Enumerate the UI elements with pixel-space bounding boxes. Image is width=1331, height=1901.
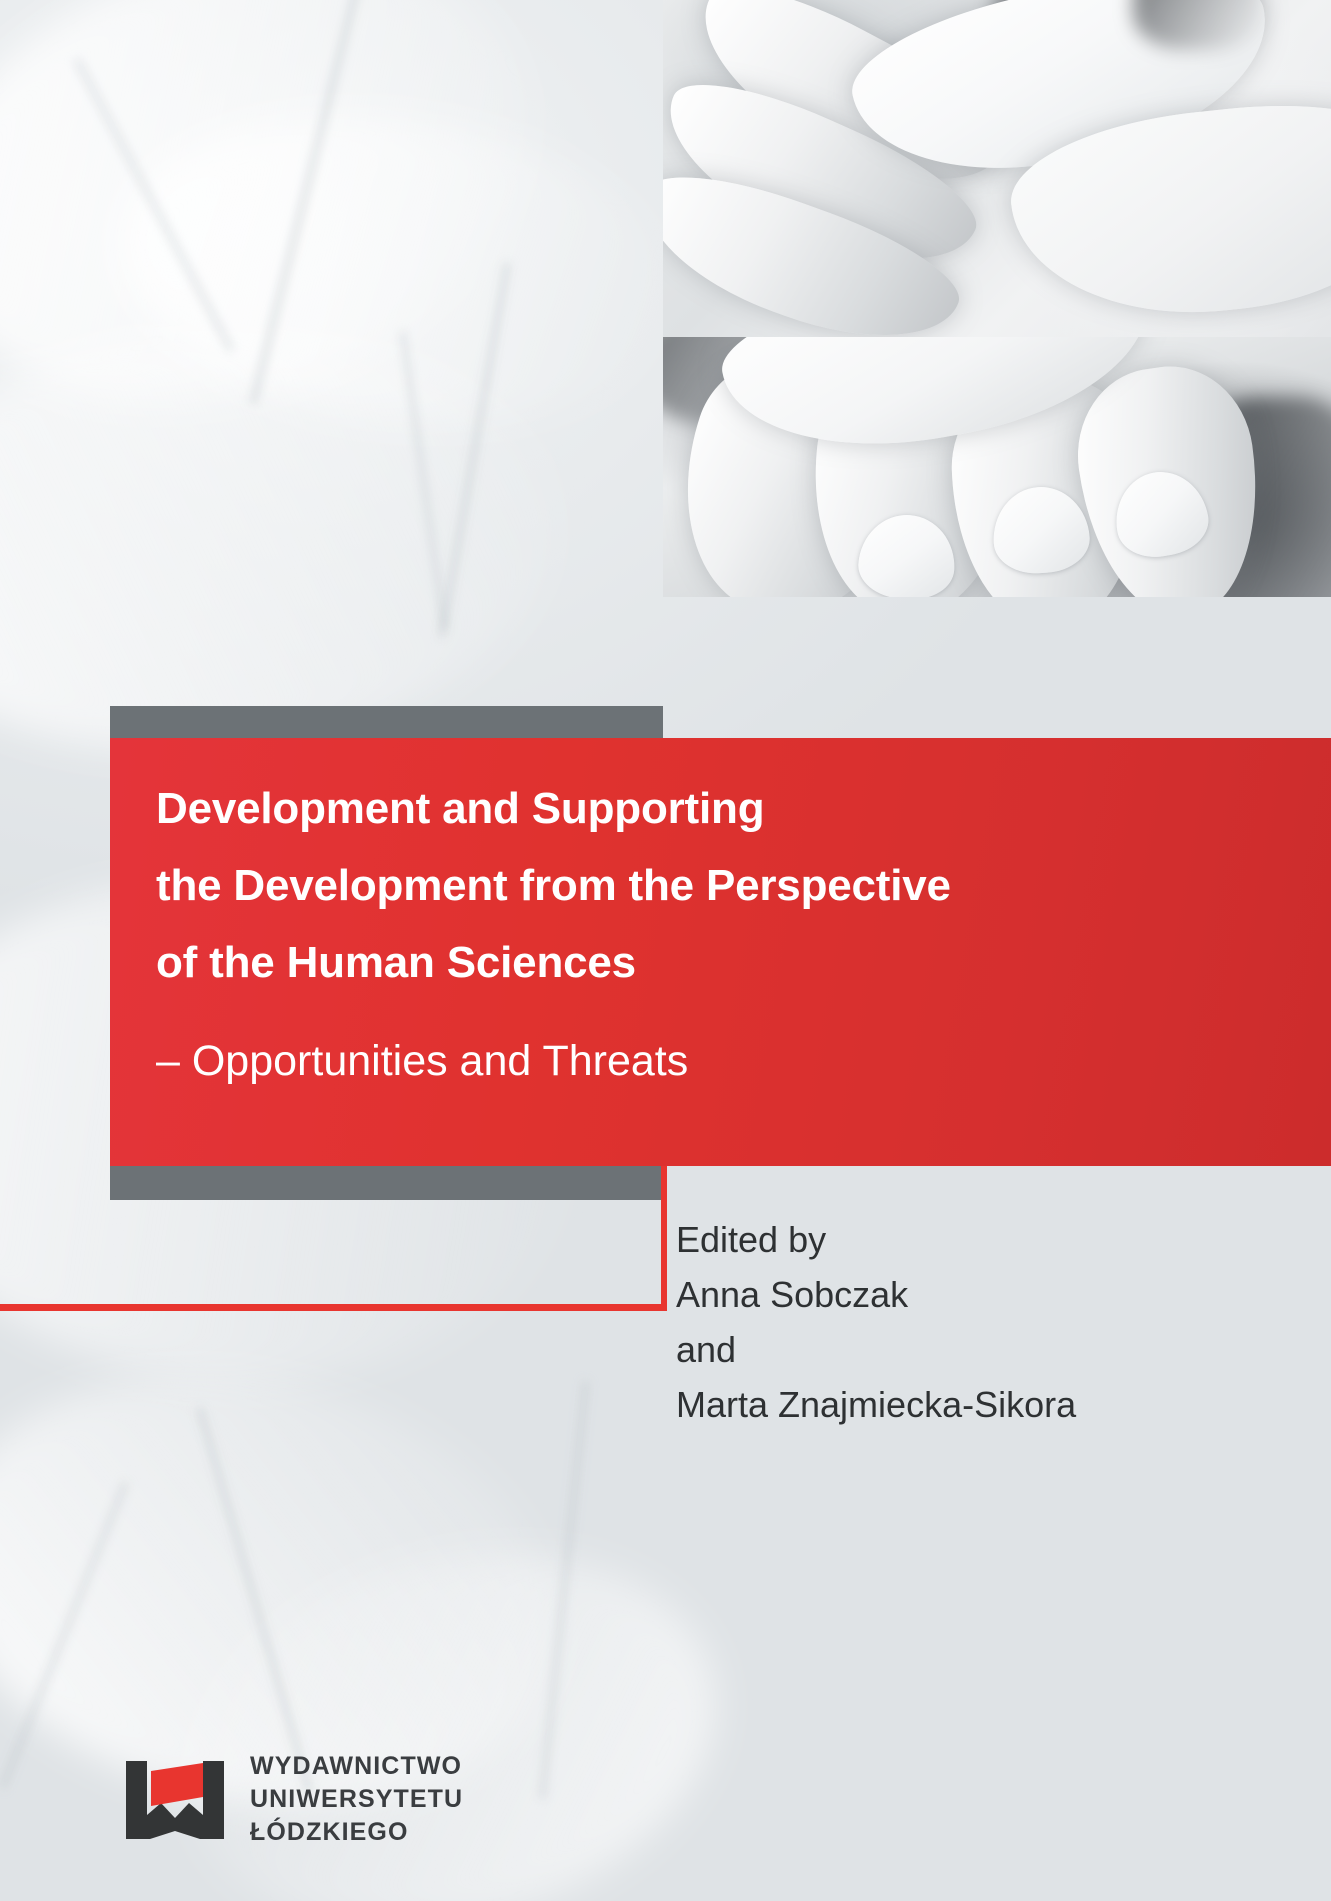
editor-name-2: Marta Znajmiecka-Sikora [676, 1377, 1316, 1432]
publisher-logo: WYDAWNICTWO UNIWERSYTETU ŁÓDZKIEGO [126, 1750, 463, 1849]
cover-photo-hands-lower [663, 337, 1331, 597]
cover-red-horizontal-rule [0, 1304, 667, 1311]
title-bar-top [110, 706, 663, 738]
cover-photo-hands-upper [663, 0, 1331, 337]
publisher-line-3: ŁÓDZKIEGO [250, 1816, 463, 1849]
lodz-university-press-icon [126, 1761, 224, 1839]
title-bar-bottom [110, 1166, 663, 1200]
title-line-2: the Development from the Perspective [156, 847, 1256, 924]
edited-by-label: Edited by [676, 1212, 1316, 1267]
editors-block: Edited by Anna Sobczak and Marta Znajmie… [676, 1212, 1316, 1432]
editors-conjunction: and [676, 1322, 1316, 1377]
publisher-name: WYDAWNICTWO UNIWERSYTETU ŁÓDZKIEGO [250, 1750, 463, 1849]
title-line-1: Development and Supporting [156, 770, 1256, 847]
book-cover: Development and Supporting the Developme… [0, 0, 1331, 1901]
editor-name-1: Anna Sobczak [676, 1267, 1316, 1322]
title-line-3: of the Human Sciences [156, 924, 1256, 1001]
book-subtitle: – Opportunities and Threats [156, 1023, 1256, 1100]
publisher-line-1: WYDAWNICTWO [250, 1750, 463, 1783]
editors-red-vertical-rule [661, 1166, 667, 1309]
book-title: Development and Supporting the Developme… [156, 770, 1256, 1100]
publisher-line-2: UNIWERSYTETU [250, 1783, 463, 1816]
